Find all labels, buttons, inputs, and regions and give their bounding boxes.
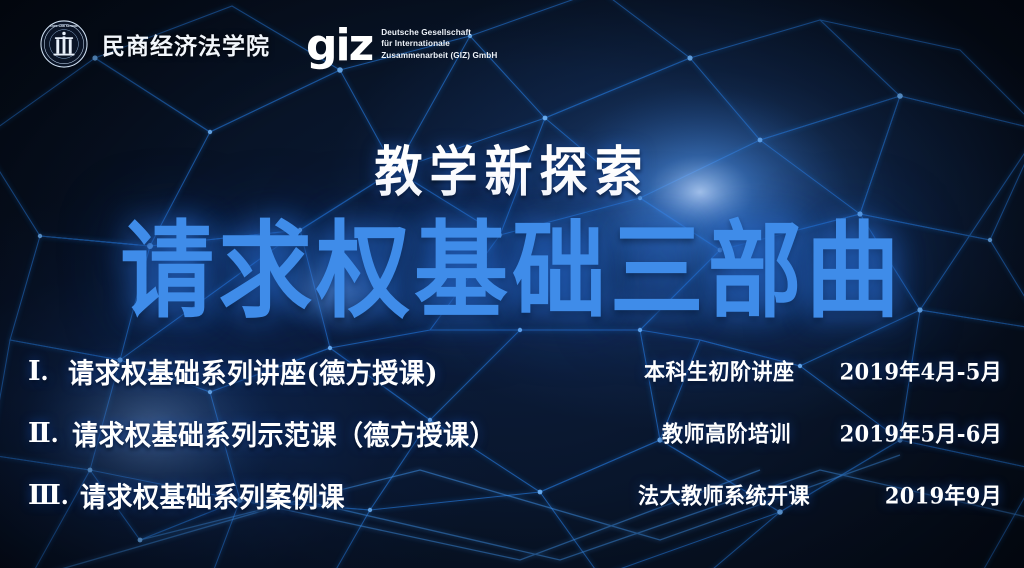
giz-line-3: Zusammenarbeit (GIZ) GmbH — [381, 50, 497, 62]
giz-line-2: für Internationale — [381, 38, 497, 50]
program-list: Ⅰ. 请求权基础系列讲座(德方授课) 本科生初阶讲座 2019年4月-5月 Ⅱ.… — [0, 340, 1024, 526]
program-period: 2019年5月-6月 — [840, 417, 1002, 449]
program-numeral: Ⅲ. — [28, 480, 69, 511]
giz-subtitle-lines: Deutsche Gesellschaft für Internationale… — [381, 27, 497, 62]
school-name-label: 民商经济法学院 — [102, 27, 270, 61]
program-period: 2019年4月-5月 — [840, 355, 1002, 387]
program-row: Ⅰ. 请求权基础系列讲座(德方授课) 本科生初阶讲座 2019年4月-5月 — [0, 340, 1024, 402]
program-course-title: 请求权基础系列案例课 — [80, 476, 345, 515]
giz-logo: giz Deutsche Gesellschaft für Internatio… — [306, 27, 497, 62]
giz-wordmark: giz — [306, 29, 372, 63]
svg-text:CUPL LAW SCHOOL: CUPL LAW SCHOOL — [50, 24, 78, 28]
header-logos: CUPL LAW SCHOOL 民商经济法学院 giz Deutsche Ges… — [40, 20, 497, 68]
program-period: 2019年9月 — [885, 479, 1002, 511]
poster-canvas: CUPL LAW SCHOOL 民商经济法学院 giz Deutsche Ges… — [0, 0, 1024, 568]
program-course-title: 请求权基础系列讲座(德方授课) — [68, 352, 438, 391]
program-course-title: 请求权基础系列示范课（德方授课） — [72, 414, 496, 453]
program-audience: 本科生初阶讲座 — [644, 355, 795, 387]
program-numeral: Ⅰ. — [28, 356, 48, 387]
cupl-seal-icon: CUPL LAW SCHOOL — [40, 20, 88, 68]
poster-main-title: 请求权基础三部曲 — [0, 187, 1024, 339]
program-numeral: Ⅱ. — [28, 418, 59, 449]
program-audience: 教师高阶培训 — [662, 417, 791, 449]
program-row: Ⅲ. 请求权基础系列案例课 法大教师系统开课 2019年9月 — [0, 464, 1024, 526]
program-audience: 法大教师系统开课 — [638, 479, 810, 511]
program-row: Ⅱ. 请求权基础系列示范课（德方授课） 教师高阶培训 2019年5月-6月 — [0, 402, 1024, 464]
giz-line-1: Deutsche Gesellschaft — [381, 27, 497, 39]
